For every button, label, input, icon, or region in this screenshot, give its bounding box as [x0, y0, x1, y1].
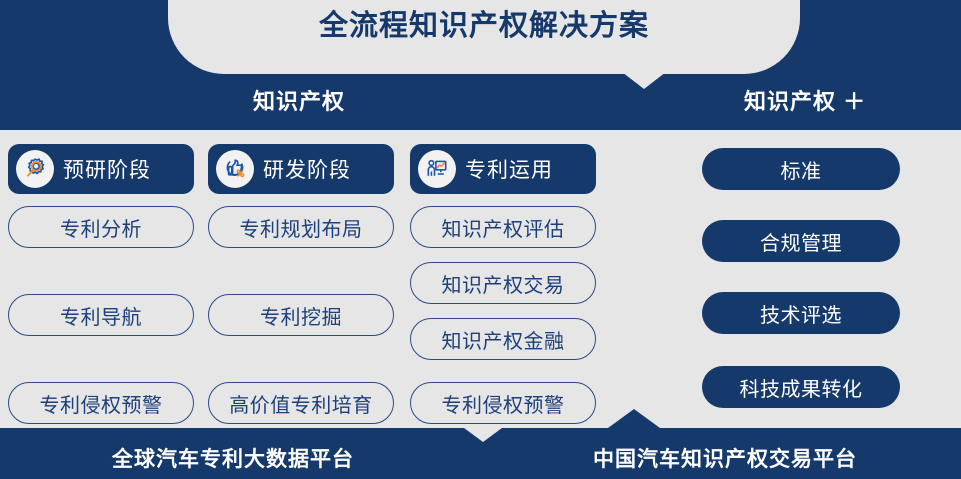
thumbs-up-percent-icon: [216, 150, 254, 188]
plus-list-item-label: 技术评选: [760, 299, 842, 328]
title-banner-notch-icon: [622, 72, 666, 89]
plus-list-item[interactable]: 标准: [702, 148, 900, 190]
footer-platform-right: 中国汽车知识产权交易平台: [593, 443, 857, 473]
list-item[interactable]: 专利侵权预警: [8, 382, 194, 424]
infographic-canvas: 全流程知识产权解决方案 知识产权 知识产权 ＋: [0, 0, 961, 479]
content-panel: 预研阶段 专利分析 专利导航 专利侵权预警: [0, 130, 961, 428]
footer-notch-down-icon: [464, 428, 502, 442]
stage-header-label: 预研阶段: [63, 154, 151, 184]
section-label-ip-plus: 知识产权 ＋: [744, 84, 866, 116]
list-item-label: 知识产权金融: [442, 325, 565, 354]
stage-header-label: 专利运用: [465, 154, 553, 184]
list-item[interactable]: 专利规划布局: [208, 206, 394, 248]
list-item-label: 专利规划布局: [240, 213, 363, 242]
list-item[interactable]: 专利导航: [8, 294, 194, 336]
page-title: 全流程知识产权解决方案: [168, 8, 800, 44]
list-item[interactable]: 知识产权评估: [410, 206, 596, 248]
section-label-ip: 知识产权: [253, 84, 345, 116]
list-item-label: 专利导航: [60, 301, 142, 330]
plus-list-item-label: 合规管理: [760, 227, 842, 256]
gear-magnifier-icon: [16, 150, 54, 188]
plus-list-item-label: 科技成果转化: [740, 373, 863, 402]
stage-header-yanfa[interactable]: 研发阶段: [208, 144, 394, 194]
plus-list-item[interactable]: 技术评选: [702, 292, 900, 334]
list-item-label: 高价值专利培育: [229, 389, 373, 418]
list-item[interactable]: 知识产权交易: [410, 262, 596, 304]
list-item[interactable]: 专利分析: [8, 206, 194, 248]
presenter-chart-icon: [418, 150, 456, 188]
list-item-label: 专利分析: [60, 213, 142, 242]
stage-header-yunyong[interactable]: 专利运用: [410, 144, 596, 194]
list-item[interactable]: 知识产权金融: [410, 318, 596, 360]
list-item-label: 专利侵权预警: [442, 389, 565, 418]
list-item[interactable]: 专利侵权预警: [410, 382, 596, 424]
plus-list-item[interactable]: 合规管理: [702, 220, 900, 262]
stage-header-yuyan[interactable]: 预研阶段: [8, 144, 194, 194]
footer-notch-up-icon: [608, 409, 660, 428]
plus-list-item[interactable]: 科技成果转化: [702, 366, 900, 408]
list-item-label: 专利挖掘: [260, 301, 342, 330]
list-item-label: 知识产权交易: [442, 269, 565, 298]
footer-platform-left: 全球汽车专利大数据平台: [112, 443, 354, 473]
list-item[interactable]: 高价值专利培育: [208, 382, 394, 424]
stage-header-label: 研发阶段: [263, 154, 351, 184]
list-item-label: 专利侵权预警: [40, 389, 163, 418]
list-item[interactable]: 专利挖掘: [208, 294, 394, 336]
plus-list-item-label: 标准: [781, 155, 822, 184]
list-item-label: 知识产权评估: [442, 213, 565, 242]
